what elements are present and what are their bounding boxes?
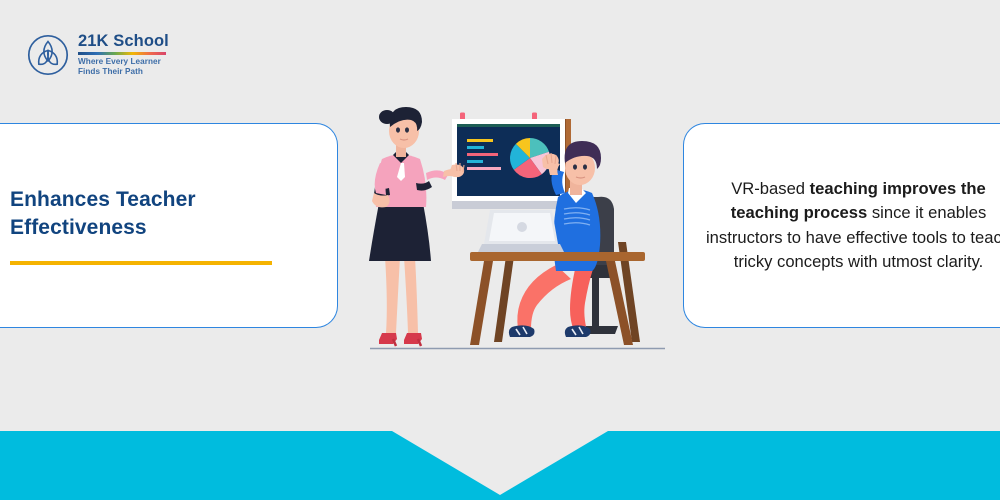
description-part-1: VR-based <box>731 179 809 198</box>
teacher-leg-right <box>404 257 418 333</box>
slide-canvas: 21K School Where Every Learner Finds The… <box>0 0 1000 500</box>
brand-tagline-line1: Where Every Learner <box>78 57 169 67</box>
desk-top <box>470 252 645 261</box>
lotus-circle-icon <box>27 34 69 76</box>
brand-logo-text: 21K School Where Every Learner Finds The… <box>78 33 169 77</box>
bottom-bar-shape <box>0 431 1000 500</box>
teacher-hair-bun <box>379 110 395 124</box>
teacher-figure <box>369 107 464 346</box>
board-bar-3 <box>467 153 498 156</box>
student-leg-back <box>570 265 593 331</box>
brand-tagline-line2: Finds Their Path <box>78 67 169 77</box>
brand-gradient-rule <box>78 52 166 55</box>
board-frame-base <box>452 201 565 209</box>
page-title: Enhances Teacher Effectiveness <box>10 186 313 242</box>
board-bar-1 <box>467 139 493 142</box>
laptop-base <box>478 244 564 252</box>
brand-logo[interactable]: 21K School Where Every Learner Finds The… <box>27 33 169 77</box>
desk-leg-front-left <box>470 261 493 345</box>
title-underline <box>10 261 272 265</box>
board-bar-5 <box>467 167 501 170</box>
teacher-leg-left <box>385 257 400 333</box>
student-eye-left <box>573 164 577 169</box>
laptop-logo <box>517 222 527 232</box>
classroom-illustration <box>360 105 680 360</box>
left-title-card: Enhances Teacher Effectiveness <box>0 123 338 328</box>
bottom-accent-bar <box>0 431 1000 500</box>
laptop <box>478 210 564 252</box>
student-leg-front <box>517 265 571 329</box>
right-description-card: VR-based teaching improves the teaching … <box>683 123 1000 328</box>
board-bar-4 <box>467 160 483 163</box>
board-bar-2 <box>467 146 484 149</box>
description-text: VR-based teaching improves the teaching … <box>706 177 1000 274</box>
board-screen-topbar <box>457 124 560 127</box>
student-eye-right <box>583 164 587 169</box>
page-title-line1: Enhances Teacher <box>10 186 313 214</box>
chair-post <box>592 278 599 326</box>
teacher-skirt <box>369 203 431 261</box>
page-title-line2: Effectiveness <box>10 214 313 242</box>
teacher-eye-left <box>396 127 400 132</box>
student-shoe-back <box>565 325 591 337</box>
student-shoe-front <box>509 325 535 337</box>
brand-name: 21K School <box>78 33 169 50</box>
illustration-svg <box>360 105 680 360</box>
teacher-eye-right <box>405 127 409 132</box>
brand-tagline: Where Every Learner Finds Their Path <box>78 57 169 77</box>
